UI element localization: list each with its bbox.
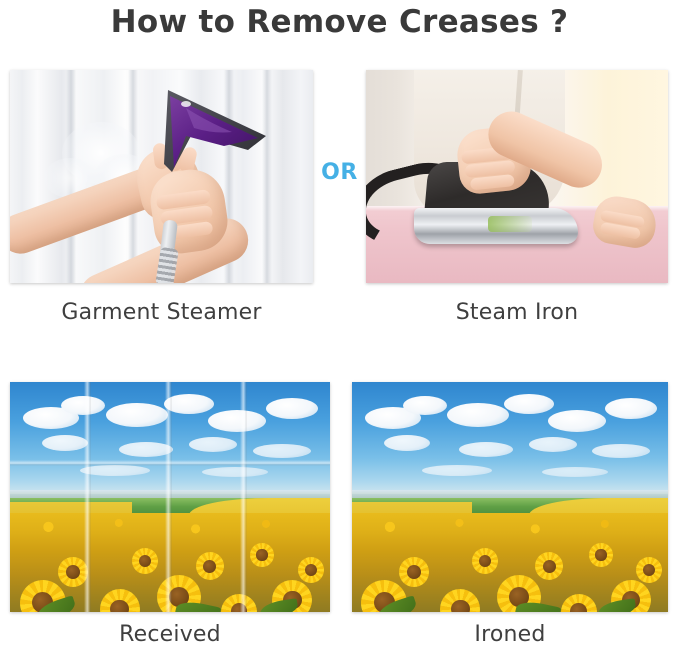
cloud-icon	[42, 435, 88, 451]
cloud-icon	[106, 403, 168, 427]
page-title: How to Remove Creases ?	[0, 4, 679, 40]
sunflower-icon	[250, 543, 274, 567]
cloud-icon	[504, 394, 554, 414]
garment-steamer-icon	[162, 88, 272, 178]
cloud-icon	[384, 435, 430, 451]
cloud-icon	[447, 403, 509, 427]
panel-steam-iron	[366, 70, 668, 283]
sunflower-icon	[58, 557, 88, 587]
cloud-icon	[80, 465, 150, 476]
sunflower-icon	[196, 552, 224, 580]
cloud-icon	[605, 398, 657, 419]
cloud-icon	[164, 394, 214, 414]
or-connector-label: OR	[313, 160, 366, 185]
gripping-hand	[455, 124, 533, 195]
cloud-icon	[459, 442, 513, 457]
caption-steam-iron: Steam Iron	[366, 300, 668, 325]
steam-iron-photo	[366, 70, 668, 283]
panel-received	[10, 382, 330, 612]
sunflower-icon	[132, 548, 158, 574]
sunflower-icon	[399, 557, 429, 587]
sunflower-photo-creased	[10, 382, 330, 612]
cloud-icon	[548, 410, 606, 432]
caption-ironed: Ironed	[352, 622, 668, 647]
steamer-photo	[10, 70, 313, 283]
cloud-icon	[422, 465, 492, 476]
sunflower-icon	[589, 543, 613, 567]
cloud-icon	[208, 410, 266, 432]
panel-garment-steamer	[10, 70, 313, 283]
iron-label-sticker	[488, 216, 532, 232]
cloud-icon	[61, 396, 105, 415]
sunflower-icon	[636, 557, 662, 583]
infographic-page: How to Remove Creases ?	[0, 0, 679, 651]
cloud-icon	[119, 442, 173, 457]
sunflower-icon	[298, 557, 324, 583]
sunflower-photo-smooth	[352, 382, 668, 612]
sunflower-icon	[472, 548, 498, 574]
caption-garment-steamer: Garment Steamer	[10, 300, 313, 325]
panel-ironed	[352, 382, 668, 612]
caption-received: Received	[10, 622, 330, 647]
cloud-icon	[403, 396, 447, 415]
cloud-icon	[542, 467, 608, 477]
cloud-icon	[266, 398, 318, 419]
